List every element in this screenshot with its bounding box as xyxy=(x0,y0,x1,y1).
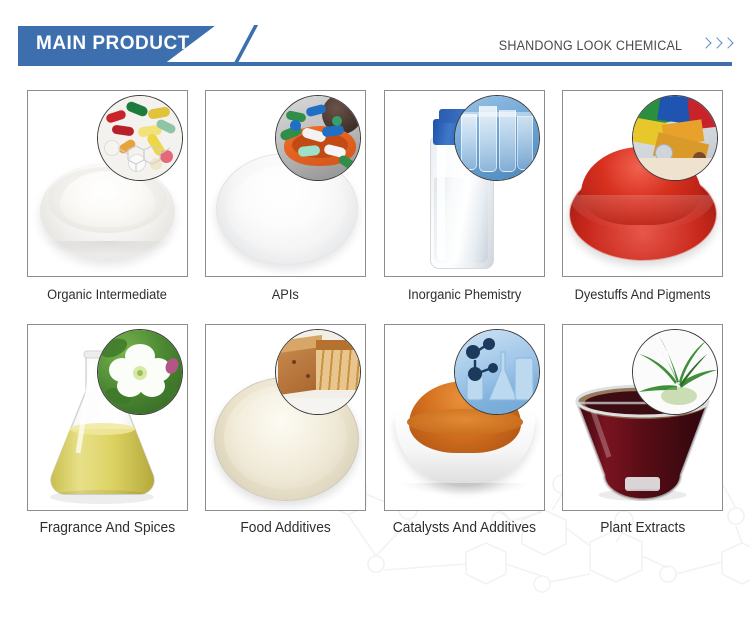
molecule-overlay-icon xyxy=(98,96,182,180)
product-image xyxy=(27,90,188,277)
product-card-plant-extracts[interactable]: Plant Extracts xyxy=(554,324,733,536)
product-label: Fragrance And Spices xyxy=(39,520,175,536)
product-card-dyestuffs-and-pigments[interactable]: Dyestuffs And Pigments xyxy=(554,90,733,302)
green-aloe-leaves-inset xyxy=(632,329,718,415)
product-row: Organic Intermediate xyxy=(18,90,732,302)
banner-accent-stripe xyxy=(232,26,266,62)
chevron-right-icon xyxy=(701,38,732,52)
product-grid: Organic Intermediate xyxy=(18,90,732,536)
colorful-pills-and-capsules-inset xyxy=(97,95,183,181)
product-showcase-page: MAIN PRODUCT SHANDONG LOOK CHEMICAL xyxy=(0,0,750,604)
product-image xyxy=(384,90,545,277)
product-card-catalysts-and-additives[interactable]: Catalysts And Additives xyxy=(375,324,554,536)
product-image xyxy=(205,324,366,511)
product-image xyxy=(27,324,188,511)
product-card-fragrance-and-spices[interactable]: Fragrance And Spices xyxy=(18,324,197,536)
product-card-inorganic-chemistry[interactable]: Inorganic Phemistry xyxy=(375,90,554,302)
product-image xyxy=(562,324,723,511)
capsules-in-orange-container-inset xyxy=(275,95,361,181)
product-label: Catalysts And Additives xyxy=(393,520,536,536)
product-label: Plant Extracts xyxy=(600,520,685,536)
product-image xyxy=(562,90,723,277)
sliced-bread-loaf-inset xyxy=(275,329,361,415)
banner-shape: MAIN PRODUCT xyxy=(18,26,258,62)
blue-laboratory-glassware-inset xyxy=(454,329,540,415)
product-label: Food Additives xyxy=(241,520,331,536)
page-header: MAIN PRODUCT SHANDONG LOOK CHEMICAL xyxy=(0,0,750,78)
product-label: Dyestuffs And Pigments xyxy=(575,287,711,302)
white-flower-plant-inset xyxy=(97,329,183,415)
company-name: SHANDONG LOOK CHEMICAL xyxy=(499,38,682,53)
product-image xyxy=(384,324,545,511)
product-card-apis[interactable]: APIs xyxy=(197,90,376,302)
product-card-organic-intermediate[interactable]: Organic Intermediate xyxy=(18,90,197,302)
product-label: APIs xyxy=(272,287,299,302)
product-label: Inorganic Phemistry xyxy=(408,287,521,302)
blue-test-tubes-inset xyxy=(454,95,540,181)
main-product-banner: MAIN PRODUCT xyxy=(18,26,258,62)
product-image xyxy=(205,90,366,277)
header-divider xyxy=(18,62,732,66)
product-row: Fragrance And Spices xyxy=(18,324,732,536)
product-card-food-additives[interactable]: Food Additives xyxy=(197,324,376,536)
colored-pigment-paints-inset xyxy=(632,95,718,181)
product-label: Organic Intermediate xyxy=(47,287,167,302)
page-title: MAIN PRODUCT xyxy=(18,33,190,55)
